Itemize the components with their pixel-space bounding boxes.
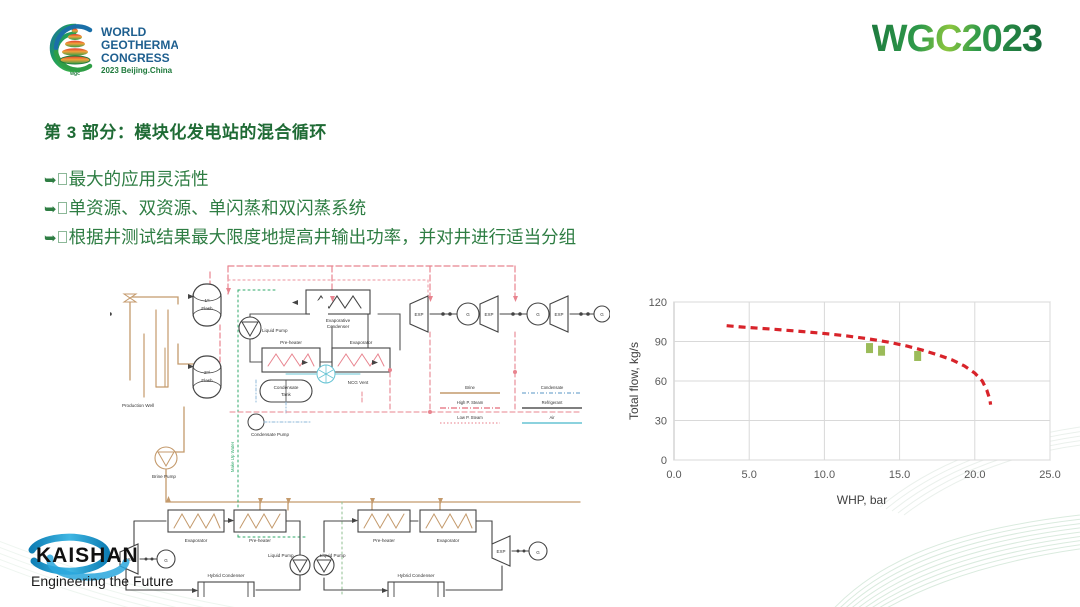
legend-label-air: Air [549, 415, 555, 420]
diagram-label-gen-b: G [536, 550, 540, 555]
diagram-label-evaporator-a: Evaporator [185, 538, 208, 543]
diagram-label-condensate-tank-2: Tank [281, 392, 291, 397]
event-logo-line-2: GEOTHERMAL [101, 38, 178, 52]
diagram-label-flash2b: Flash [201, 378, 213, 383]
diagram-label-exp-1: EXP [414, 312, 423, 317]
wgc2023-wordmark: WGC2023 [872, 18, 1042, 61]
event-logo-line-1: WORLD [101, 25, 147, 39]
legend-label-refrigerant: Refrigerant [542, 400, 564, 405]
legend-label-hp-steam: High P. Steam [457, 400, 484, 405]
list-item: ➥ 最大的应用灵活性 [44, 165, 576, 194]
diagram-label-exp-b: EXP [496, 549, 505, 554]
arrow-bullet-icon: ➥ [44, 166, 57, 194]
diagram-label-evap-condenser-2: Condenser [327, 324, 350, 329]
page-title: 第 3 部分：模块化发电站的混合循环 [44, 118, 327, 143]
diagram-label-condensate-pump: Condensate Pump [251, 432, 289, 437]
chart-xtick-label: 15.0 [889, 469, 910, 481]
diagram-label-exp-3: EXP [554, 312, 563, 317]
kaishan-wordmark: KAISHAN [36, 544, 139, 567]
arrow-bullet-icon: ➥ [44, 195, 57, 223]
diagram-label-brine-pump: Brine Pump [152, 474, 176, 479]
chart-xtick-label: 0.0 [666, 469, 681, 481]
bullet-text: 最大的应用灵活性 [69, 165, 209, 193]
legend-label-lp-steam: Low P. Steam [457, 415, 483, 420]
kaishan-logo: KAISHAN Engineering the Future [14, 528, 184, 596]
chart-xtick-label: 25.0 [1039, 469, 1060, 481]
whp-flow-chart: 03060901200.05.010.015.020.025.0WHP, bar… [622, 288, 1062, 523]
chart-xtick-label: 5.0 [742, 469, 757, 481]
chart-xtick-label: 20.0 [964, 469, 985, 481]
chart-ytick-label: 90 [655, 337, 667, 349]
placeholder-glyph-icon [58, 173, 67, 185]
diagram-label-evaporator-upper: Evaporator [350, 340, 373, 345]
chart-data-point [878, 346, 885, 356]
chart-data-point [866, 343, 873, 353]
diagram-label-hybrid-condenser-a: Hybrid Condenser [207, 573, 244, 578]
diagram-label-flash1b: Flash [201, 306, 213, 311]
diagram-label-exp-2: EXP [484, 312, 493, 317]
chart-ytick-label: 60 [655, 376, 667, 388]
diagram-label-evaporator-b: Evaporator [437, 538, 460, 543]
diagram-label-gen-2: G [536, 312, 540, 317]
diagram-label-ncg-vent: NCG Vent [348, 380, 369, 385]
bullet-text: 根据井测试结果最大限度地提高井输出功率，并对井进行适当分组 [69, 223, 577, 251]
diagram-label-gen-1: G [466, 312, 470, 317]
chart-ytick-label: 120 [649, 297, 667, 309]
chart-xlabel: WHP, bar [837, 493, 887, 507]
bullet-text: 单资源、双资源、单闪蒸和双闪蒸系统 [69, 194, 367, 222]
diagram-label-preheater-upper: Pre-heater [280, 340, 302, 345]
diagram-label-liquid-pump-a: Liquid Pump [268, 553, 294, 558]
diagram-label-liquid-pump-b: Liquid Pump [320, 553, 346, 558]
diagram-label-gen-3: G [600, 312, 604, 317]
chart-data-point [914, 351, 921, 361]
legend-label-condensate: Condensate [541, 385, 564, 390]
legend-label-brine: Brine [465, 385, 475, 390]
kaishan-tagline: Engineering the Future [31, 573, 174, 589]
bullet-list: ➥ 最大的应用灵活性 ➥ 单资源、双资源、单闪蒸和双闪蒸系统 ➥ 根据井测试结果… [44, 165, 576, 252]
diagram-label-preheater-a: Pre-heater [249, 538, 271, 543]
chart-ylabel: Total flow, kg/s [627, 342, 641, 420]
event-logo-line-3: CONGRESS [101, 51, 170, 65]
diagram-label-make-up-water: Make Up Water [230, 441, 235, 472]
diagram-label-liquid-pump-upper: Liquid Pump [262, 328, 288, 333]
process-flow-diagram: 1st Flash 2nd Flash Evaporative Condense… [110, 252, 610, 597]
diagram-label-condensate-tank-1: Condensate [274, 385, 299, 390]
diagram-label-production-well: Production Well [122, 403, 154, 408]
diagram-label-evap-condenser-1: Evaporative [326, 318, 351, 323]
slide: wgc WORLD GEOTHERMAL CONGRESS 2023 Beiji… [0, 0, 1080, 607]
wgc-event-logo: wgc WORLD GEOTHERMAL CONGRESS 2023 Beiji… [28, 12, 178, 82]
placeholder-glyph-icon [58, 231, 67, 243]
diagram-label-hybrid-condenser-b: Hybrid Condenser [397, 573, 434, 578]
list-item: ➥ 单资源、双资源、单闪蒸和双闪蒸系统 [44, 194, 576, 223]
arrow-bullet-icon: ➥ [44, 224, 57, 252]
chart-ytick-label: 30 [655, 416, 667, 428]
diagram-legend: Brine High P. Steam Low P. Steam Condens… [440, 385, 582, 423]
event-logo-line-4: 2023 Beijing.China [101, 66, 173, 75]
chart-ytick-label: 0 [661, 455, 667, 467]
wgc-mark-text: wgc [69, 71, 80, 77]
diagram-label-preheater-b: Pre-heater [373, 538, 395, 543]
list-item: ➥ 根据井测试结果最大限度地提高井输出功率，并对井进行适当分组 [44, 223, 576, 252]
placeholder-glyph-icon [58, 202, 67, 214]
chart-xtick-label: 10.0 [814, 469, 835, 481]
